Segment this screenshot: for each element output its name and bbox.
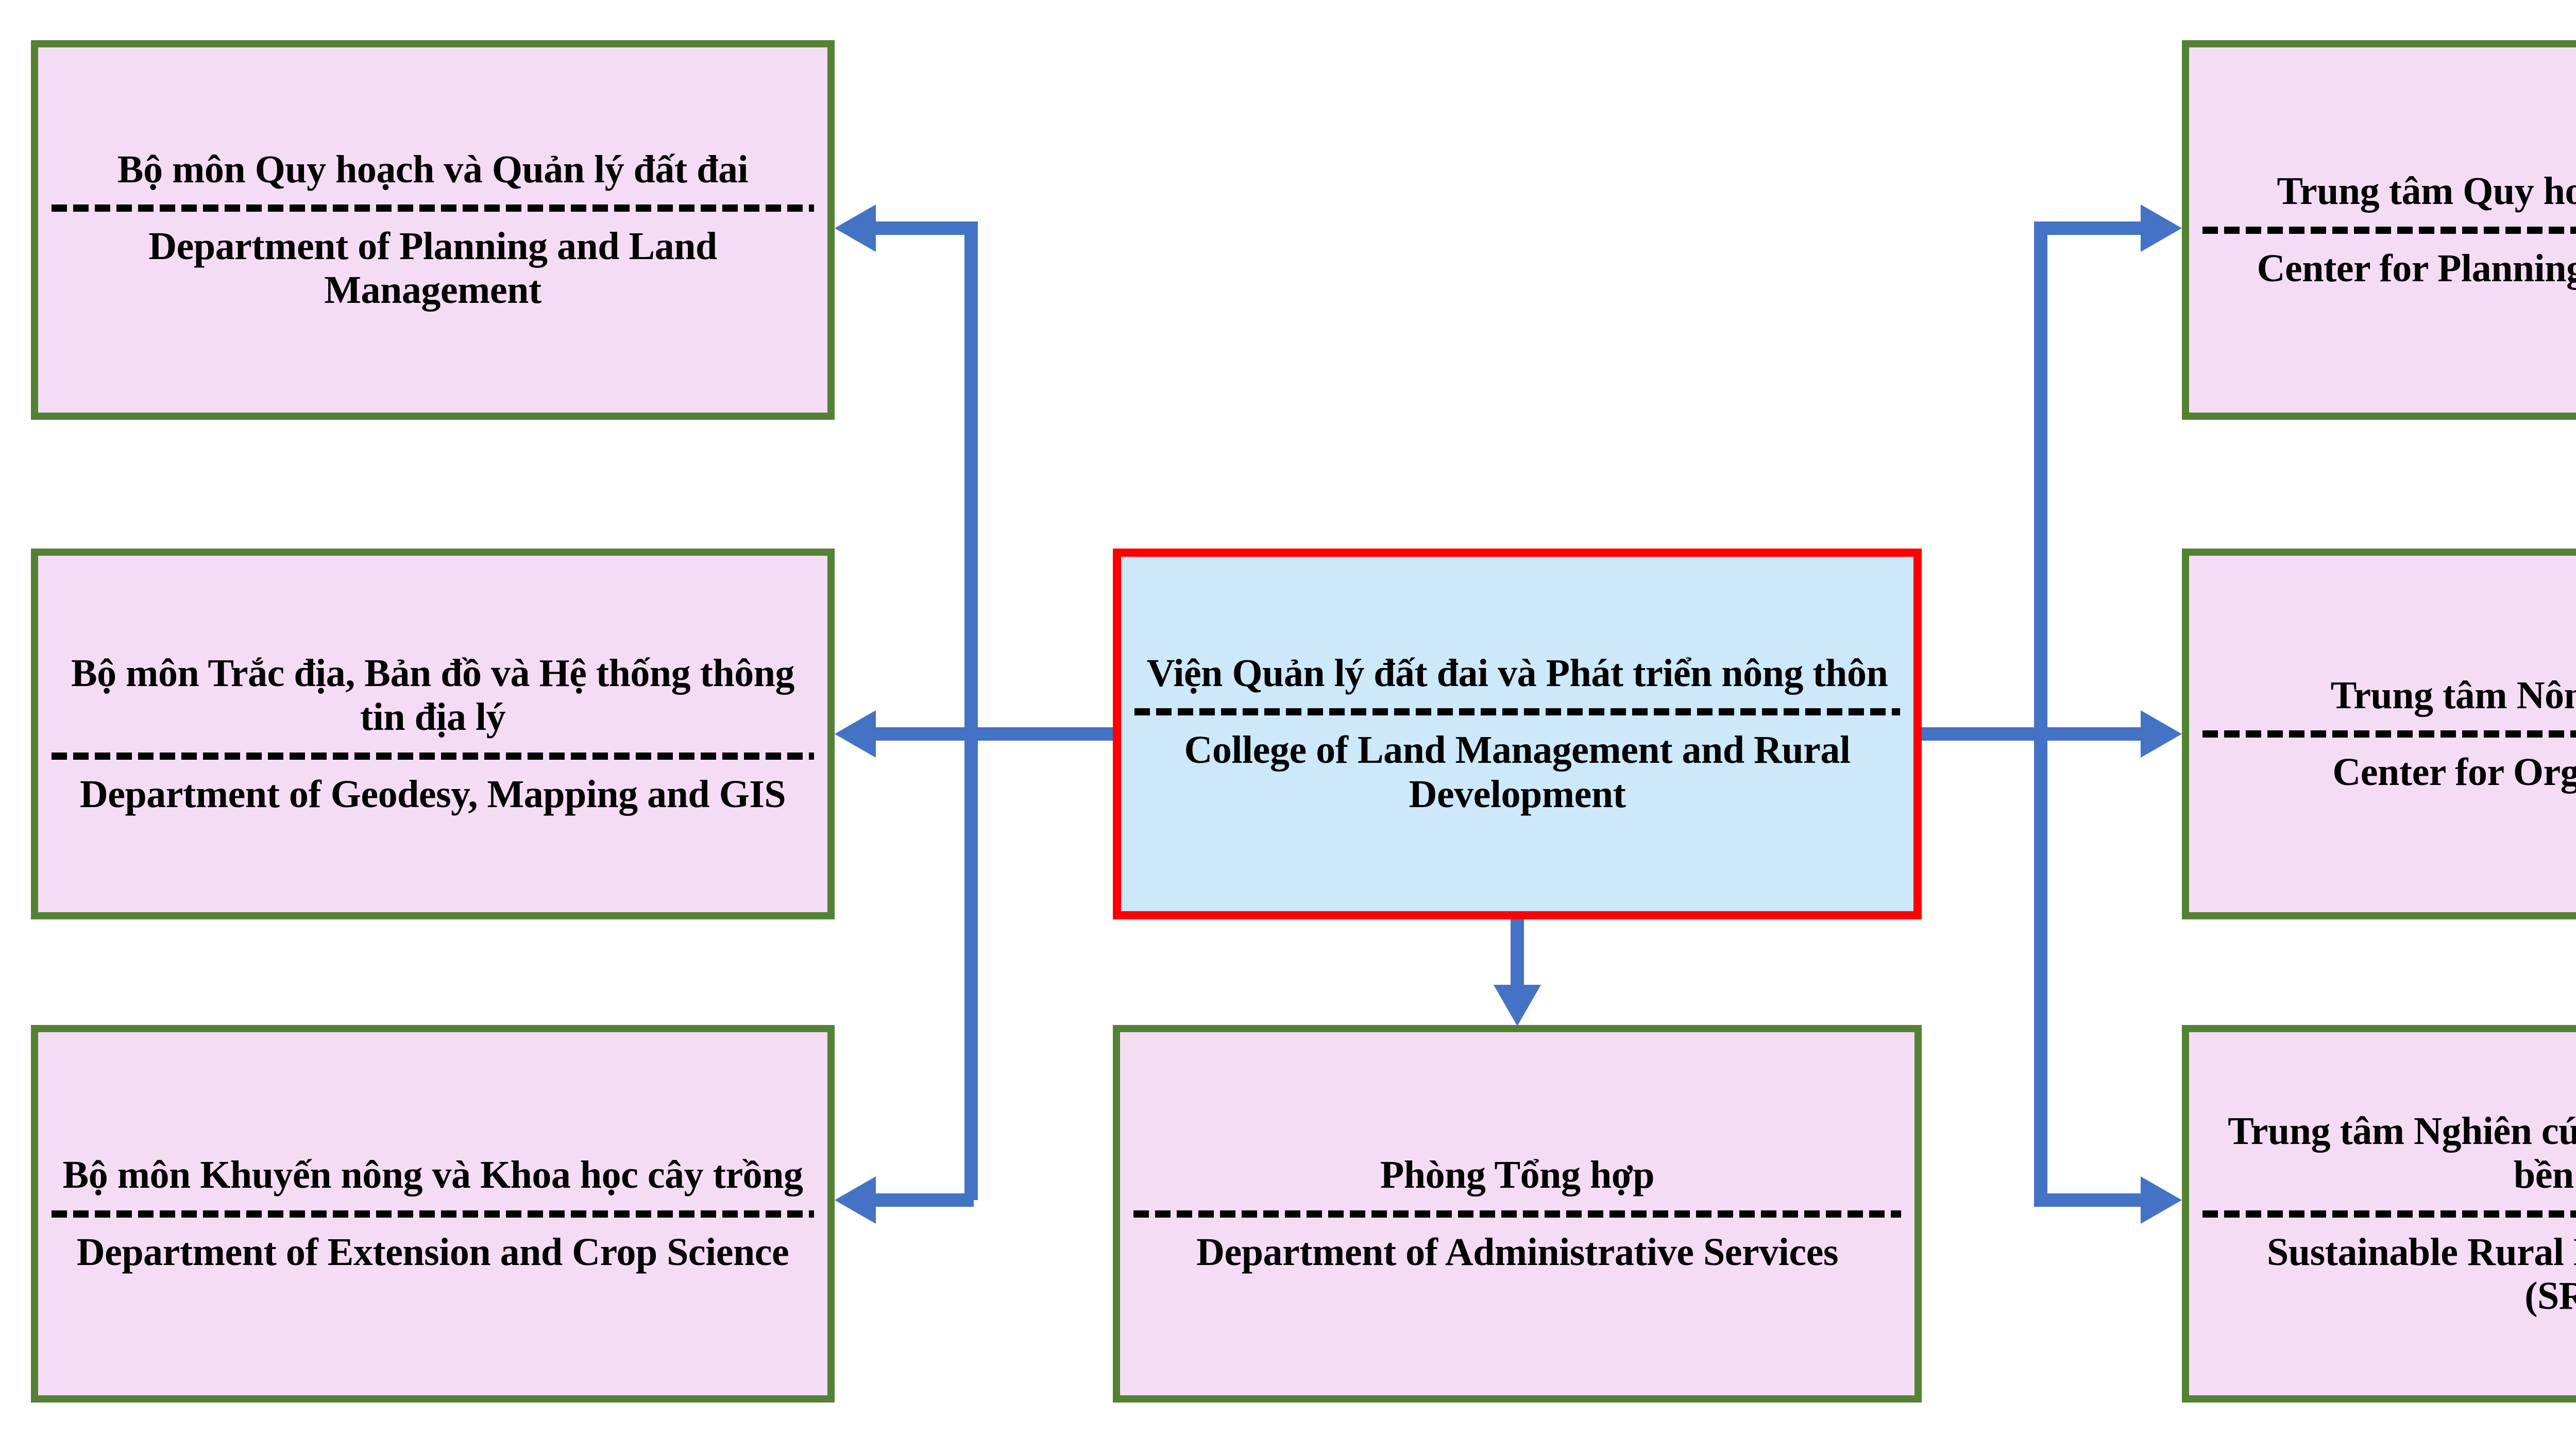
department-geodesy-title-vi: Bộ môn Trắc địa, Bản đồ và Hệ thống thôn… xyxy=(52,652,814,739)
department-extension-title-vi: Bộ môn Khuyến nông và Khoa học cây trồng xyxy=(52,1153,814,1197)
center-srdc-divider xyxy=(2202,1198,2576,1230)
department-geodesy-divider xyxy=(52,740,814,773)
left-branch-2-arrowhead xyxy=(835,710,876,758)
department-extension-title-en: Department of Extension and Crop Science xyxy=(52,1230,814,1274)
left-branch-3-line xyxy=(876,1193,974,1207)
right-branch-1-arrowhead xyxy=(2141,204,2182,252)
center-land-valuation-title-vi: Trung tâm Quy hoạch và Định giá đất xyxy=(2202,169,2576,213)
right-branch-2-line xyxy=(1922,727,2142,741)
right-trunk-line xyxy=(2034,221,2047,1200)
left-branch-2-line xyxy=(876,727,1113,741)
center-organic-agriculture-title-en: Center for Organic Agriculture xyxy=(2202,750,2576,794)
org-chart-canvas: Bộ môn Quy hoạch và Quản lý đất đai Depa… xyxy=(0,0,2576,1453)
center-srdc-title-vi: Trung tâm Nghiên cứu phát triển nông thô… xyxy=(2202,1109,2576,1197)
root-college-box[interactable]: Viện Quản lý đất đai và Phát triển nông … xyxy=(1113,549,1922,919)
center-srdc-box[interactable]: Trung tâm Nghiên cứu phát triển nông thô… xyxy=(2182,1025,2576,1403)
center-land-valuation-box[interactable]: Trung tâm Quy hoạch và Định giá đất Cent… xyxy=(2182,40,2576,420)
department-extension-divider xyxy=(52,1198,814,1230)
right-branch-1-line xyxy=(2034,221,2142,235)
center-srdc-title-en: Sustainable Rural Development Center (SR… xyxy=(2202,1230,2576,1318)
department-planning-box[interactable]: Bộ môn Quy hoạch và Quản lý đất đai Depa… xyxy=(31,40,835,420)
center-land-valuation-title-en: Center for Planning and Land Valuation xyxy=(2202,247,2576,290)
administration-title-en: Department of Administrative Services xyxy=(1133,1230,1901,1274)
department-planning-divider xyxy=(52,192,814,225)
root-college-title-en: College of Land Management and Rural Dev… xyxy=(1134,728,1900,816)
right-branch-3-arrowhead xyxy=(2141,1176,2182,1224)
root-college-title-vi: Viện Quản lý đất đai và Phát triển nông … xyxy=(1134,652,1900,695)
down-branch-arrowhead xyxy=(1494,985,1541,1026)
right-branch-3-line xyxy=(2034,1193,2142,1207)
department-geodesy-box[interactable]: Bộ môn Trắc địa, Bản đồ và Hệ thống thôn… xyxy=(31,549,835,919)
left-branch-3-arrowhead xyxy=(835,1176,876,1224)
department-planning-title-en: Department of Planning and Land Manageme… xyxy=(52,225,814,312)
left-branch-1-arrowhead xyxy=(835,204,876,252)
administration-title-vi: Phòng Tổng hợp xyxy=(1133,1153,1901,1197)
center-organic-agriculture-title-vi: Trung tâm Nông nghiệp hữu cơ xyxy=(2202,674,2576,717)
root-college-divider xyxy=(1134,695,1900,728)
administration-divider xyxy=(1133,1198,1901,1230)
center-organic-agriculture-box[interactable]: Trung tâm Nông nghiệp hữu cơ Center for … xyxy=(2182,549,2576,919)
left-branch-1-line xyxy=(876,221,974,235)
center-land-valuation-divider xyxy=(2202,214,2576,247)
right-branch-2-arrowhead xyxy=(2141,710,2182,758)
left-trunk-line xyxy=(964,221,978,1200)
administration-box[interactable]: Phòng Tổng hợp Department of Administrat… xyxy=(1113,1025,1922,1403)
department-extension-box[interactable]: Bộ môn Khuyến nông và Khoa học cây trồng… xyxy=(31,1025,835,1403)
department-geodesy-title-en: Department of Geodesy, Mapping and GIS xyxy=(52,773,814,816)
center-organic-agriculture-divider xyxy=(2202,717,2576,750)
department-planning-title-vi: Bộ môn Quy hoạch và Quản lý đất đai xyxy=(52,148,814,192)
down-branch-line xyxy=(1511,918,1524,990)
